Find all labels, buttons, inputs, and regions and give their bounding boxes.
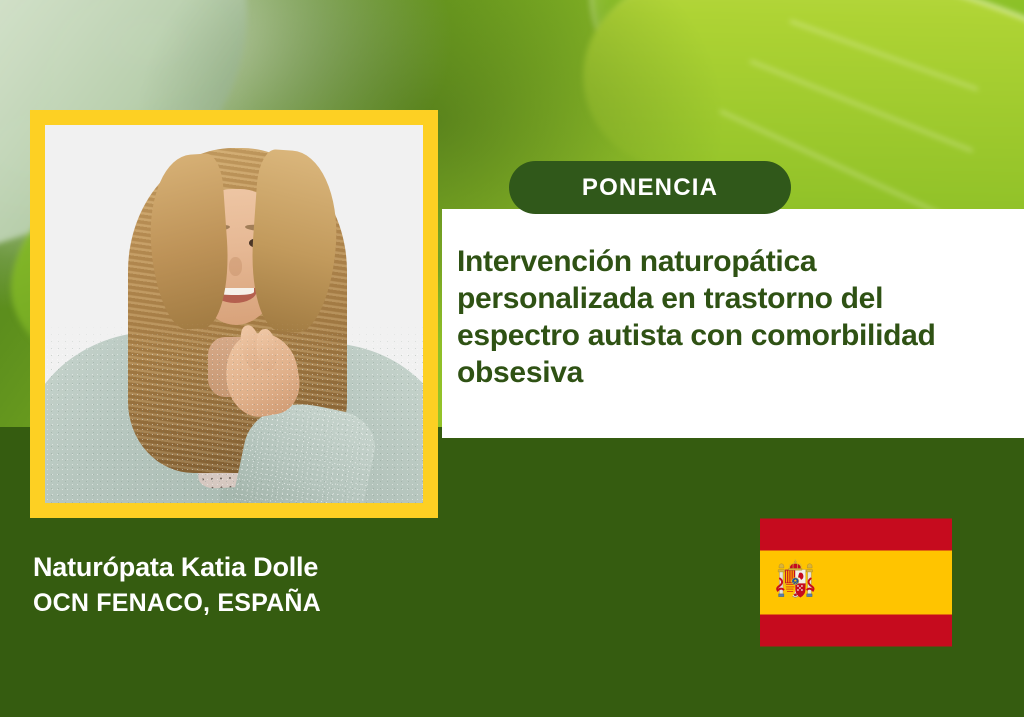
ponencia-badge: PONENCIA bbox=[509, 161, 791, 214]
spain-flag-icon bbox=[760, 517, 952, 648]
talk-title: Intervención naturopática personalizada … bbox=[457, 243, 967, 391]
speaker-photo bbox=[45, 125, 423, 503]
speaker-name: Naturópata Katia Dolle bbox=[33, 552, 318, 583]
speaker-photo-frame bbox=[30, 110, 438, 518]
nose-shape bbox=[229, 257, 243, 276]
speaker-organization: OCN FENACO, ESPAÑA bbox=[33, 589, 321, 618]
ponencia-badge-label: PONENCIA bbox=[582, 174, 718, 202]
jacket-knit-texture bbox=[45, 322, 423, 503]
speaker-announcement-poster: PONENCIA Intervención naturopática perso… bbox=[0, 0, 1024, 717]
